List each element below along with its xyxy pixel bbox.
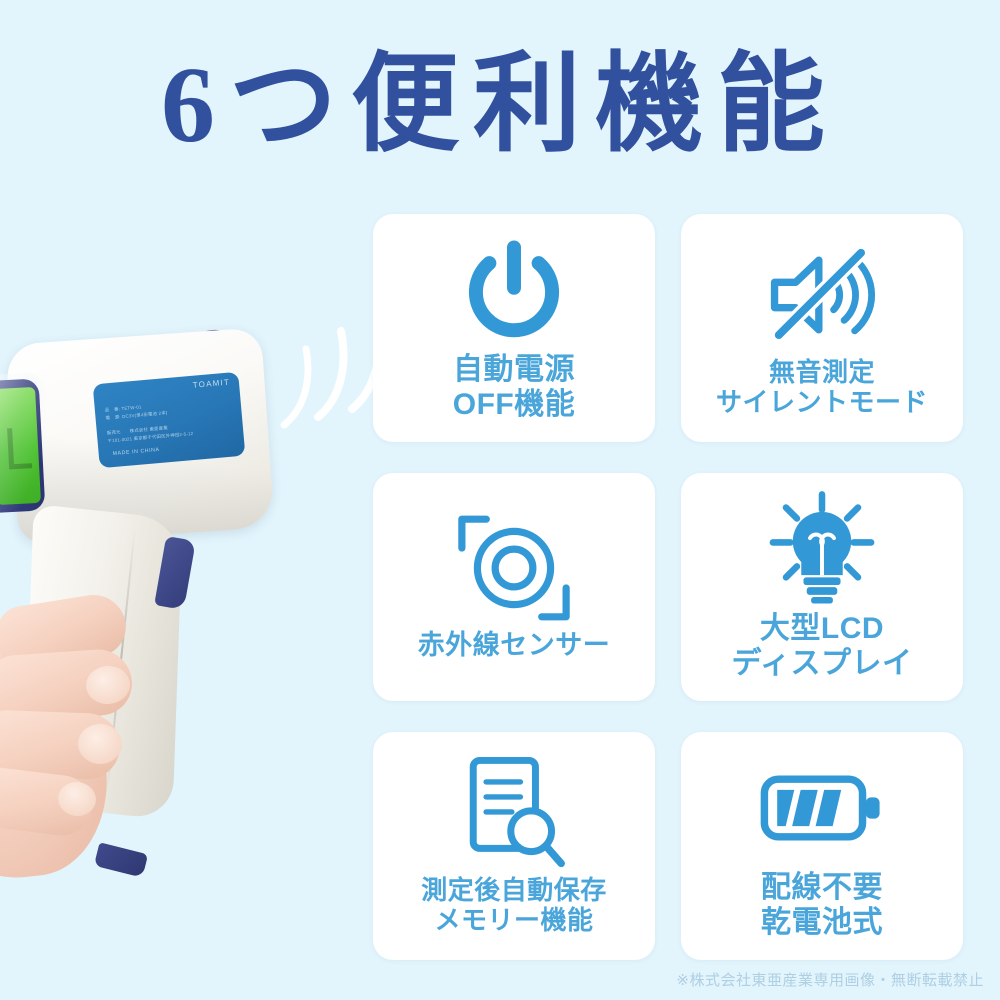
battery-icon (758, 748, 886, 868)
hand-holding-device (0, 600, 260, 920)
product-photo: TOAMIT 品 番: TETW-01 電 源: DC3V(単4形電池 2本) … (0, 300, 370, 920)
label-origin: MADE IN CHINA (112, 447, 159, 457)
document-magnifier-icon (458, 753, 570, 873)
product-label-plate: TOAMIT 品 番: TETW-01 電 源: DC3V(単4形電池 2本) … (93, 372, 246, 468)
feature-label-line: 大型LCD (732, 611, 913, 646)
infographic-page: 6つ便利機能 TOAMIT 品 番: TETW-01 電 源: DC3V(単4形… (0, 0, 1000, 1000)
feature-label-line: 赤外線センサー (418, 630, 611, 662)
feature-label: 無音測定 サイレントモード (716, 357, 928, 418)
feature-card-silent-mode[interactable]: 無音測定 サイレントモード (681, 214, 963, 442)
feature-label-line: OFF機能 (453, 387, 576, 422)
brand-logo: TOAMIT (192, 378, 230, 390)
feature-card-large-lcd[interactable]: 大型LCD ディスプレイ (681, 473, 963, 701)
feature-card-auto-power-off[interactable]: 自動電源 OFF機能 (373, 214, 655, 442)
power-icon (458, 230, 570, 350)
feature-label: 自動電源 OFF機能 (453, 352, 576, 422)
feature-label: 大型LCD ディスプレイ (732, 611, 913, 681)
feature-label-line: 自動電源 (453, 352, 576, 387)
feature-card-memory[interactable]: 測定後自動保存 メモリー機能 (373, 732, 655, 960)
feature-label-line: 測定後自動保存 (421, 875, 607, 905)
lcd-glass-reflection (0, 372, 52, 524)
feature-label-line: 無音測定 (716, 357, 928, 387)
feature-label: 測定後自動保存 メモリー機能 (421, 875, 607, 936)
lightbulb-icon (762, 489, 882, 609)
feature-label: 配線不要 乾電池式 (761, 870, 883, 940)
feature-card-infrared-sensor[interactable]: 赤外線センサー (373, 473, 655, 701)
copyright-notice: ※株式会社東亜産業専用画像・無断転載禁止 (676, 969, 984, 990)
label-seller-rows: 販売元 株式会社 東亜産業 〒101-0021 東京都千代田区外神田2-5-12 (107, 422, 194, 446)
infrared-sensor-focus-icon (453, 508, 575, 628)
page-title: 6つ便利機能 (0, 44, 1000, 168)
feature-label-line: メモリー機能 (421, 905, 607, 935)
feature-card-grid: 自動電源 OFF機能 無音測定 サイレントモード (373, 214, 963, 960)
speaker-mute-icon (764, 235, 880, 355)
feature-card-battery[interactable]: 配線不要 乾電池式 (681, 732, 963, 960)
feature-label: 赤外線センサー (418, 630, 611, 662)
feature-label-line: 乾電池式 (761, 905, 883, 940)
label-spec-rows: 品 番: TETW-01 電 源: DC3V(単4形電池 2本) (105, 401, 168, 423)
feature-label-line: 配線不要 (761, 870, 883, 905)
feature-label-line: サイレントモード (716, 387, 928, 417)
feature-label-line: ディスプレイ (732, 646, 913, 681)
